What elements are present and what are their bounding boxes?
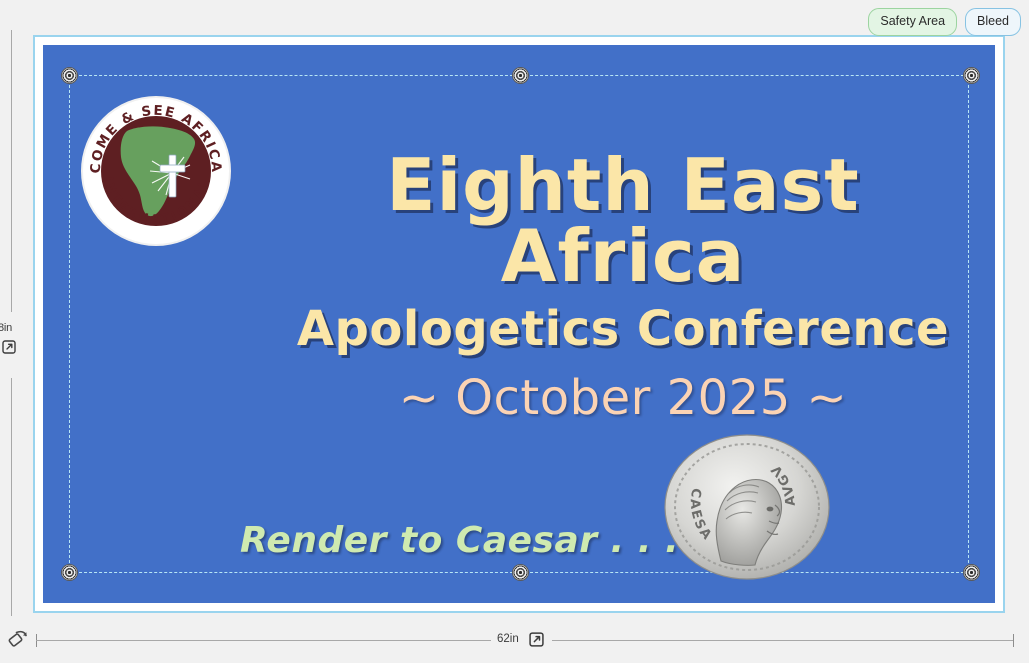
vertical-ruler: 8in [0, 30, 24, 615]
roman-caesar-coin[interactable]: AVGVSTVS CAESAR [663, 433, 831, 581]
artboard-selection-frame[interactable]: COME & SEE AFRICA INTERNATIONAL Eighth E… [33, 35, 1005, 613]
rotate-icon[interactable] [6, 627, 30, 656]
ruler-endcap-right [1013, 634, 1014, 647]
registration-mark-top-left[interactable] [61, 67, 78, 84]
registration-mark-bottom-right[interactable] [963, 564, 980, 581]
width-edit-expand-icon[interactable] [529, 632, 544, 652]
registration-mark-bottom-center[interactable] [512, 564, 529, 581]
banner-title-main[interactable]: Eighth East Africa [253, 150, 993, 291]
banner-date-line[interactable]: ~ October 2025 ~ [253, 370, 993, 426]
registration-mark-top-center[interactable] [512, 67, 529, 84]
registration-mark-bottom-left[interactable] [61, 564, 78, 581]
ruler-line-bottom [11, 378, 12, 616]
come-see-africa-international-logo[interactable]: COME & SEE AFRICA INTERNATIONAL [80, 95, 232, 247]
headline-block[interactable]: Eighth East Africa Apologetics Conferenc… [253, 150, 993, 356]
ruler-line-right [552, 640, 1014, 641]
horizontal-ruler: 62in [0, 619, 1029, 663]
design-editor-canvas-area: Safety Area Bleed 8in [0, 0, 1029, 663]
safety-area-toggle[interactable]: Safety Area [868, 8, 957, 36]
banner-tagline[interactable]: Render to Caesar . . . [240, 520, 679, 561]
banner-title-sub[interactable]: Apologetics Conference [253, 303, 993, 356]
ruler-line-left [36, 640, 491, 641]
banner-design[interactable]: COME & SEE AFRICA INTERNATIONAL Eighth E… [43, 45, 995, 603]
canvas-height-value[interactable]: 8in [0, 322, 12, 334]
canvas-width-value[interactable]: 62in [497, 633, 519, 645]
ruler-line-top [11, 30, 12, 312]
safety-guide-left [69, 75, 70, 573]
height-edit-expand-icon[interactable] [2, 340, 16, 359]
bleed-toggle[interactable]: Bleed [965, 8, 1021, 36]
guide-toggle-group: Safety Area Bleed [868, 8, 1021, 36]
registration-mark-top-right[interactable] [963, 67, 980, 84]
